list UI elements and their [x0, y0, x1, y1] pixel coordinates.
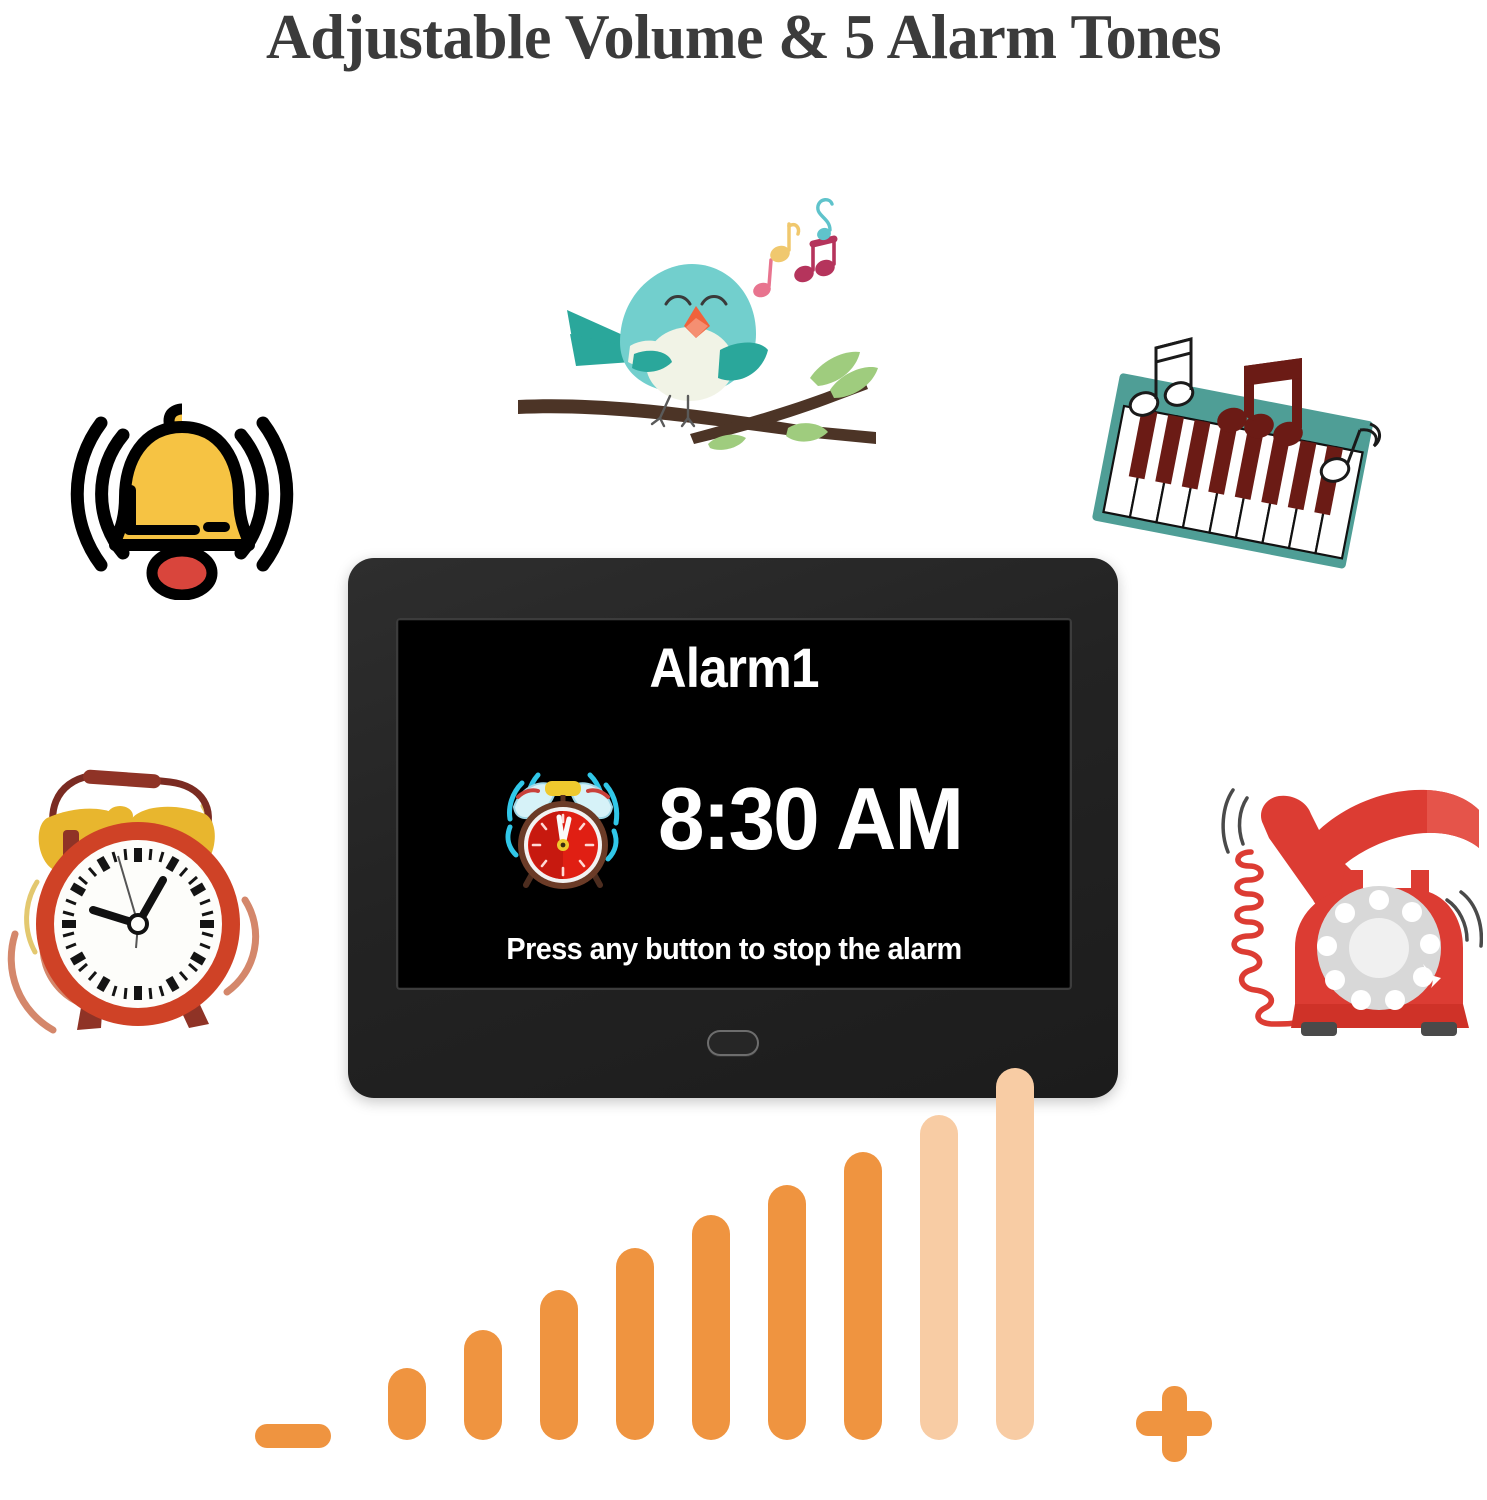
volume-plus-icon-cross	[1136, 1411, 1212, 1436]
device-screen-bezel: Alarm1	[396, 618, 1072, 990]
ringing-bell-icon	[45, 385, 320, 600]
alarm-clock-icon	[498, 749, 628, 889]
volume-bar-2[interactable]	[464, 1330, 502, 1440]
volume-bar-5[interactable]	[692, 1215, 730, 1440]
rotary-telephone-icon	[1195, 752, 1483, 1052]
volume-slider[interactable]	[230, 1180, 1260, 1480]
volume-bar-3[interactable]	[540, 1290, 578, 1440]
alarm-label: Alarm1	[426, 637, 1042, 699]
device-screen: Alarm1	[399, 621, 1069, 987]
alarm-hint-text: Press any button to stop the alarm	[422, 931, 1045, 967]
digital-alarm-clock-device: Alarm1	[348, 558, 1118, 1098]
volume-bar-1[interactable]	[388, 1368, 426, 1440]
singing-bird-icon	[512, 182, 882, 452]
volume-bar-7[interactable]	[844, 1152, 882, 1440]
volume-bar-4[interactable]	[616, 1248, 654, 1440]
home-button[interactable]	[707, 1030, 759, 1056]
volume-bar-6[interactable]	[768, 1185, 806, 1440]
volume-minus-icon[interactable]	[255, 1424, 331, 1448]
alarm-readout-row: 8:30 AM	[399, 739, 1069, 899]
vintage-alarm-clock-icon	[5, 752, 283, 1042]
volume-bar-8[interactable]	[920, 1115, 958, 1440]
volume-bar-9[interactable]	[996, 1068, 1034, 1440]
alarm-time: 8:30 AM	[658, 771, 962, 867]
piano-keyboard-icon	[1082, 322, 1422, 602]
page-title: Adjustable Volume & 5 Alarm Tones	[22, 0, 1464, 74]
